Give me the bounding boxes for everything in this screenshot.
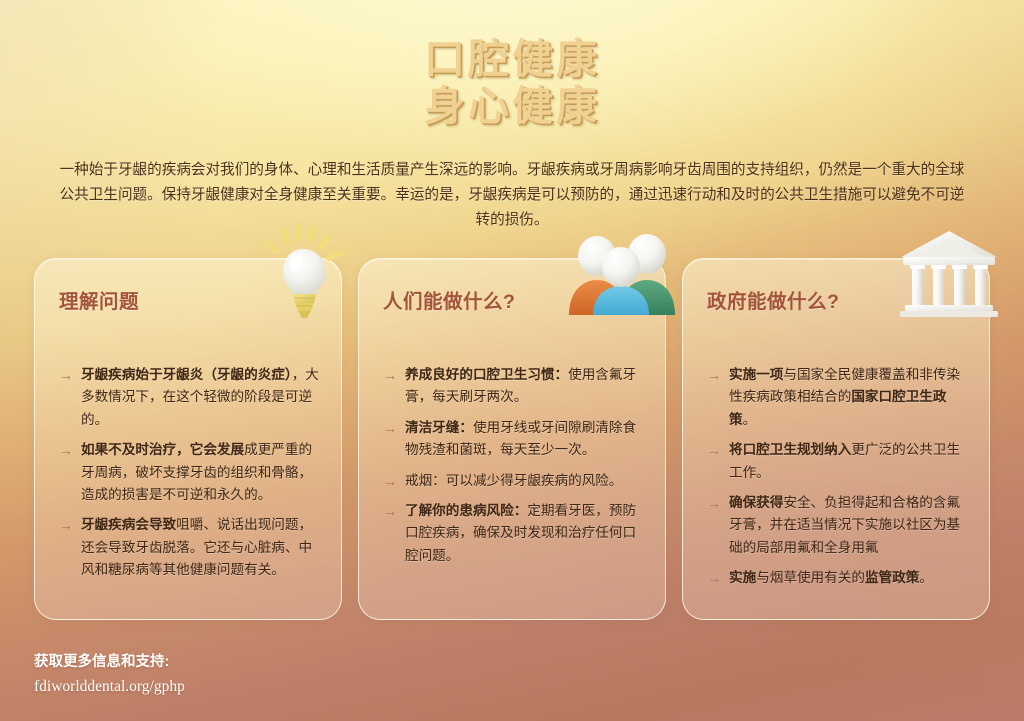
list-item-text: 牙龈疾病会导致咀嚼、说话出现问题，还会导致牙齿脱落。它还与心脏病、中风和糖尿病等… xyxy=(81,514,319,581)
arrow-right-icon: → xyxy=(383,417,397,462)
card-bullets: → 牙龈疾病始于牙龈炎（牙龈的炎症），大多数情况下，在这个轻微的阶段是可逆的。 … xyxy=(59,364,319,582)
list-item: → 清洁牙缝：使用牙线或牙间隙刷清除食物残渣和菌斑，每天至少一次。 xyxy=(383,417,643,462)
list-item: → 养成良好的口腔卫生习惯：使用含氟牙膏，每天刷牙两次。 xyxy=(383,364,643,409)
list-item-text: 养成良好的口腔卫生习惯：使用含氟牙膏，每天刷牙两次。 xyxy=(405,364,643,409)
page-title: 口腔健康 身心健康 xyxy=(0,36,1024,130)
card-understanding-the-problem: 理解问题 → 牙龈疾病始于牙龈炎（牙龈的炎症），大多数情况下，在这个轻微的阶段是… xyxy=(34,258,342,620)
arrow-right-icon: → xyxy=(59,514,73,581)
arrow-right-icon: → xyxy=(383,470,397,492)
arrow-right-icon: → xyxy=(383,500,397,567)
cards-row: 理解问题 → 牙龈疾病始于牙龈炎（牙龈的炎症），大多数情况下，在这个轻微的阶段是… xyxy=(34,258,990,620)
card-what-governments-can-do: 政府能做什么? → 实施一项与国家全民健康覆盖和非传染性疾病政策相结合的国家口腔… xyxy=(682,258,990,620)
list-item-text: 将口腔卫生规划纳入更广泛的公共卫生工作。 xyxy=(729,439,967,484)
list-item-text: 确保获得安全、负担得起和合格的含氟牙膏，并在适当情况下实施以社区为基础的局部用氟… xyxy=(729,492,967,559)
arrow-right-icon: → xyxy=(707,439,721,484)
list-item-text: 戒烟：可以减少得牙龈疾病的风险。 xyxy=(405,470,643,492)
list-item: → 戒烟：可以减少得牙龈疾病的风险。 xyxy=(383,470,643,492)
list-item-text: 如果不及时治疗，它会发展成更严重的牙周病，破坏支撑牙齿的组织和骨骼，造成的损害是… xyxy=(81,439,319,506)
page-title-line-1: 口腔健康 xyxy=(0,36,1024,83)
list-item-text: 实施与烟草使用有关的监管政策。 xyxy=(729,567,967,589)
card-title: 人们能做什么? xyxy=(383,285,643,314)
list-item-text: 清洁牙缝：使用牙线或牙间隙刷清除食物残渣和菌斑，每天至少一次。 xyxy=(405,417,643,462)
arrow-right-icon: → xyxy=(383,364,397,409)
page-title-line-2: 身心健康 xyxy=(0,83,1024,130)
arrow-right-icon: → xyxy=(707,364,721,431)
footer-label: 获取更多信息和支持: xyxy=(34,651,185,674)
footer: 获取更多信息和支持: fdiworlddental.org/gphp xyxy=(34,651,185,699)
arrow-right-icon: → xyxy=(59,439,73,506)
card-what-people-can-do: 人们能做什么? → 养成良好的口腔卫生习惯：使用含氟牙膏，每天刷牙两次。 → 清… xyxy=(358,258,666,620)
arrow-right-icon: → xyxy=(707,567,721,589)
list-item: → 牙龈疾病会导致咀嚼、说话出现问题，还会导致牙齿脱落。它还与心脏病、中风和糖尿… xyxy=(59,514,319,581)
card-bullets: → 养成良好的口腔卫生习惯：使用含氟牙膏，每天刷牙两次。 → 清洁牙缝：使用牙线… xyxy=(383,364,643,567)
arrow-right-icon: → xyxy=(707,492,721,559)
list-item: → 确保获得安全、负担得起和合格的含氟牙膏，并在适当情况下实施以社区为基础的局部… xyxy=(707,492,967,559)
list-item-text: 实施一项与国家全民健康覆盖和非传染性疾病政策相结合的国家口腔卫生政策。 xyxy=(729,364,967,431)
arrow-right-icon: → xyxy=(59,364,73,431)
list-item: → 实施与烟草使用有关的监管政策。 xyxy=(707,567,967,589)
list-item: → 牙龈疾病始于牙龈炎（牙龈的炎症），大多数情况下，在这个轻微的阶段是可逆的。 xyxy=(59,364,319,431)
list-item: → 将口腔卫生规划纳入更广泛的公共卫生工作。 xyxy=(707,439,967,484)
list-item: → 实施一项与国家全民健康覆盖和非传染性疾病政策相结合的国家口腔卫生政策。 xyxy=(707,364,967,431)
intro-paragraph: 一种始于牙龈的疾病会对我们的身体、心理和生活质量产生深远的影响。牙龈疾病或牙周病… xyxy=(56,158,968,233)
list-item-text: 了解你的患病风险：定期看牙医，预防口腔疾病，确保及时发现和治疗任何口腔问题。 xyxy=(405,500,643,567)
card-title: 政府能做什么? xyxy=(707,285,967,314)
card-bullets: → 实施一项与国家全民健康覆盖和非传染性疾病政策相结合的国家口腔卫生政策。 → … xyxy=(707,364,967,590)
list-item-text: 牙龈疾病始于牙龈炎（牙龈的炎症），大多数情况下，在这个轻微的阶段是可逆的。 xyxy=(81,364,319,431)
card-title: 理解问题 xyxy=(59,285,319,314)
list-item: → 了解你的患病风险：定期看牙医，预防口腔疾病，确保及时发现和治疗任何口腔问题。 xyxy=(383,500,643,567)
footer-url[interactable]: fdiworlddental.org/gphp xyxy=(34,674,185,699)
list-item: → 如果不及时治疗，它会发展成更严重的牙周病，破坏支撑牙齿的组织和骨骼，造成的损… xyxy=(59,439,319,506)
